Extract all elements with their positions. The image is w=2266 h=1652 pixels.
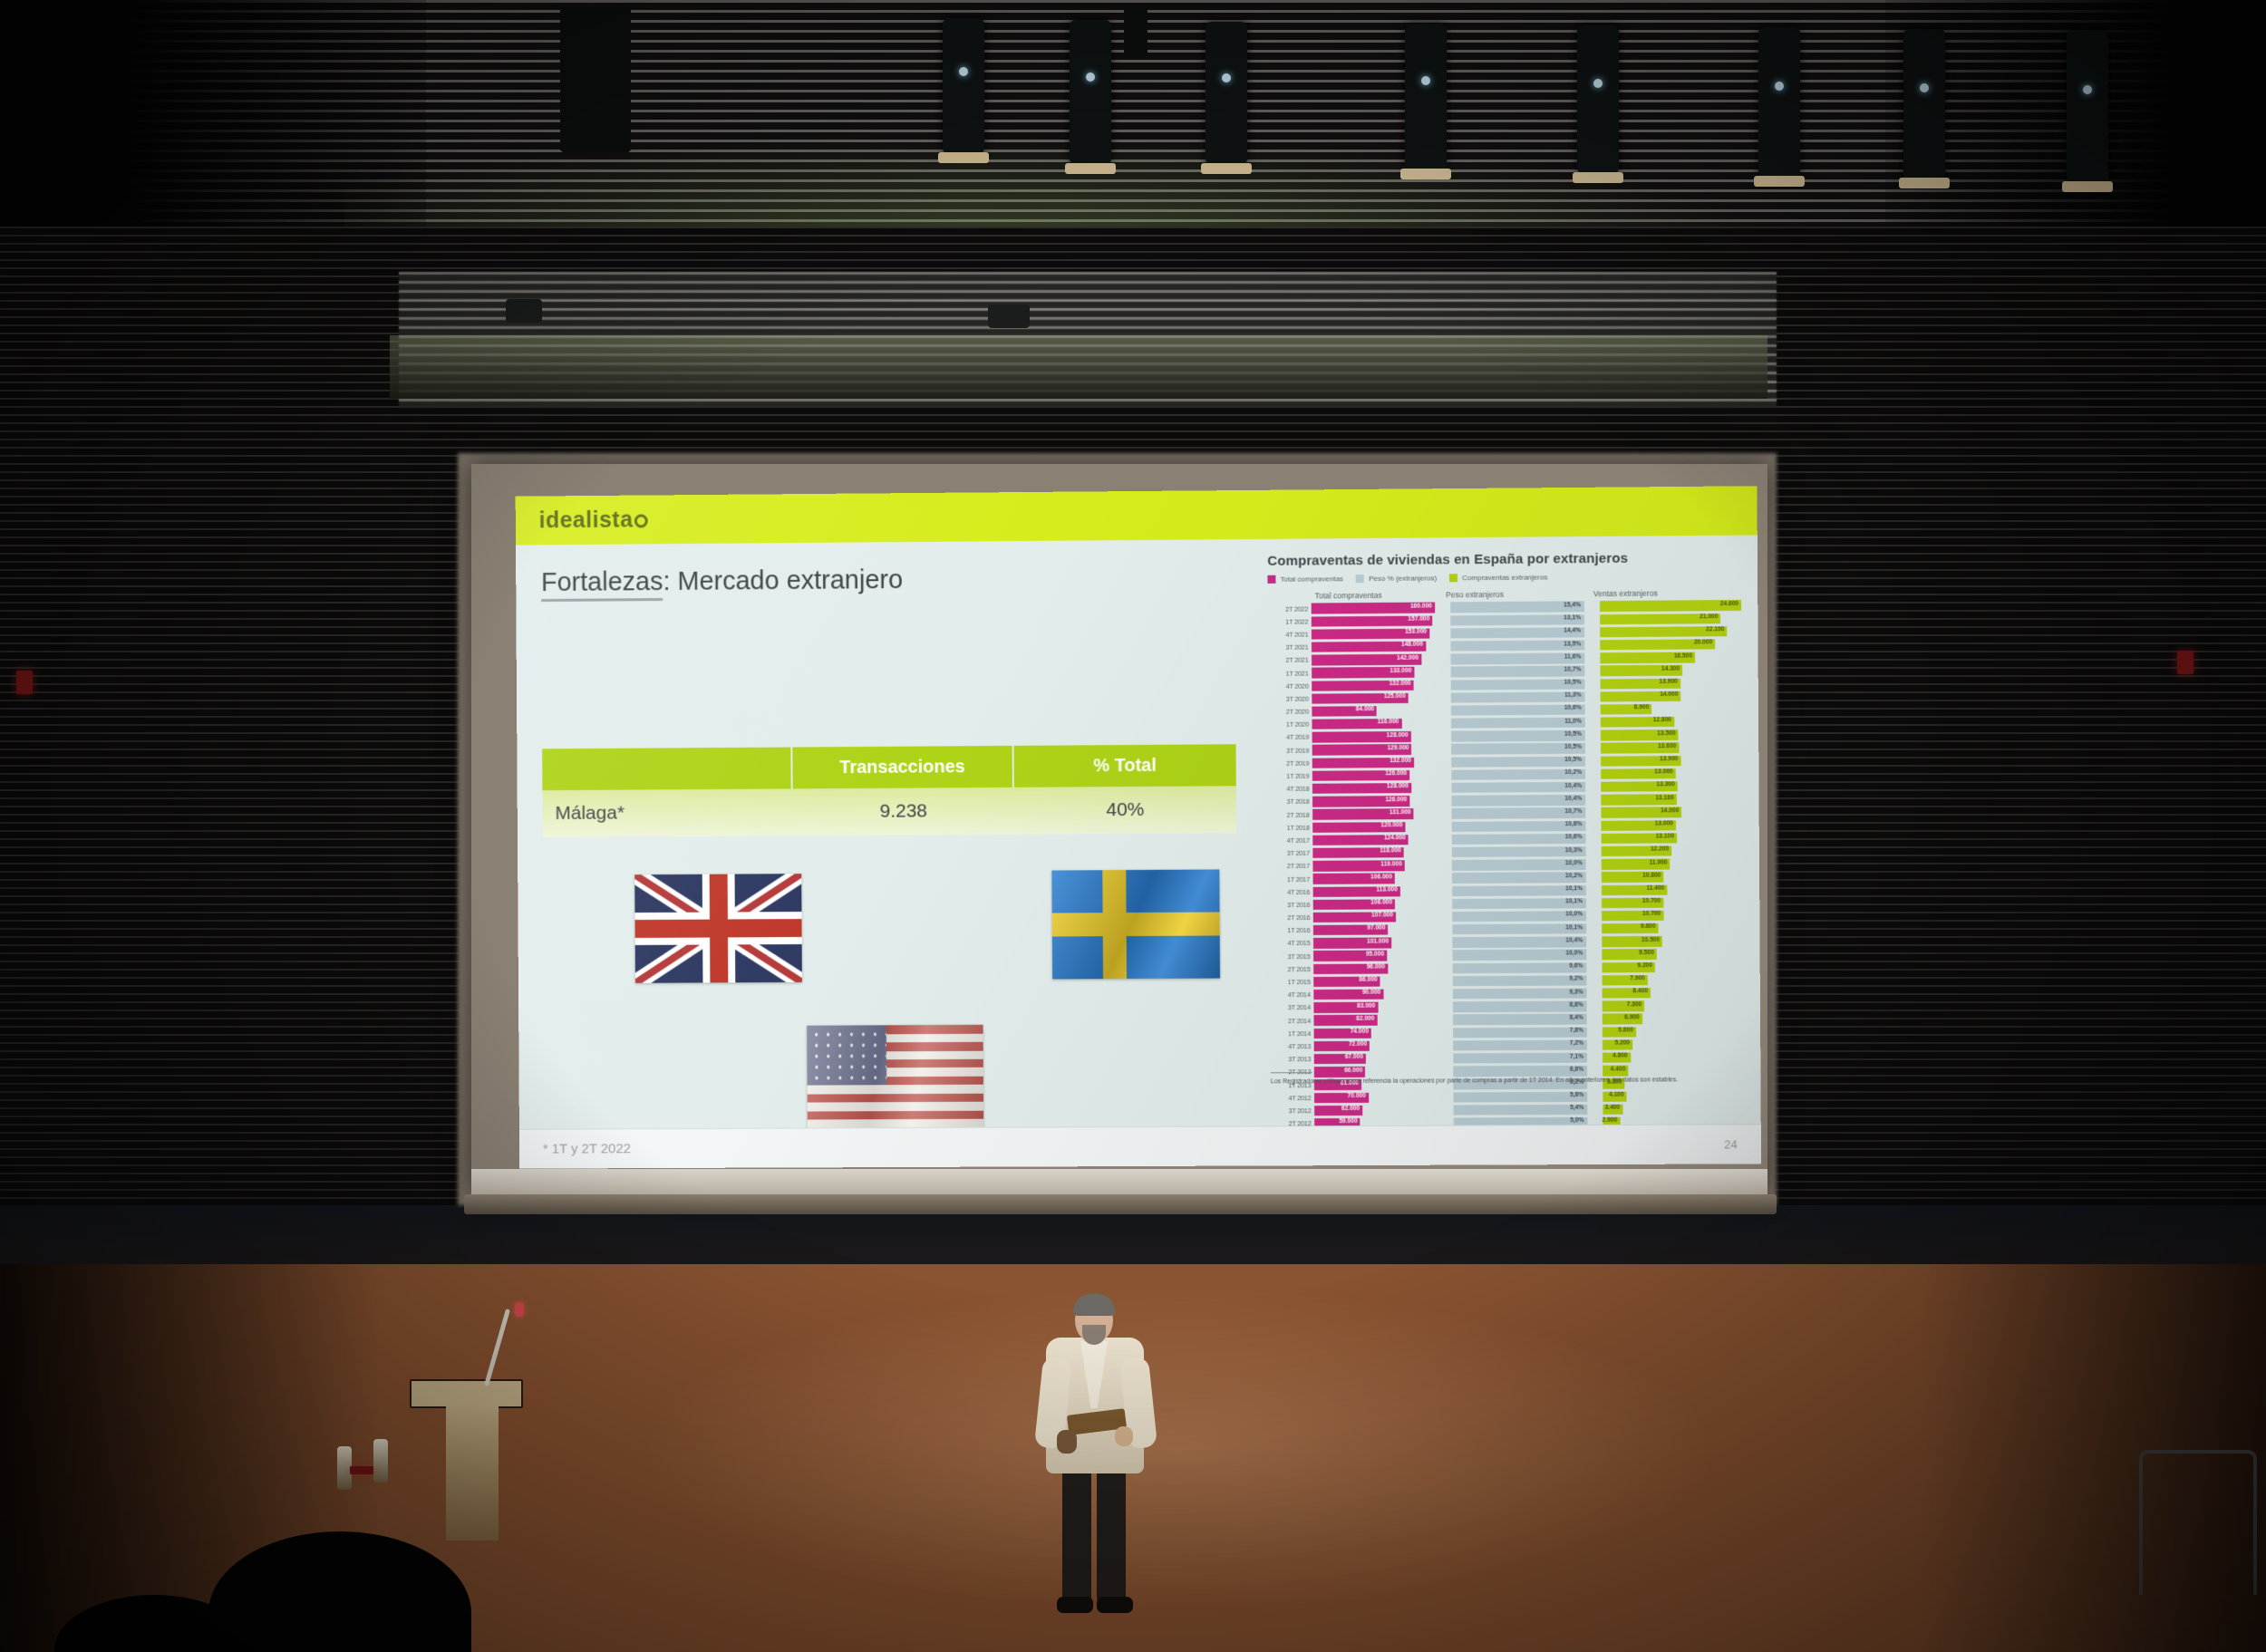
chart-row-label: 1T 2014 xyxy=(1270,1029,1314,1038)
stage-light-4 xyxy=(1405,24,1447,170)
chart-row-label: 4T 2021 xyxy=(1268,631,1312,639)
chart-row-label: 2T 2017 xyxy=(1269,862,1313,870)
chart-bar-ventas: 8.900 xyxy=(1601,703,1742,715)
chart-bar-ventas: 4.800 xyxy=(1603,1052,1744,1063)
chart-bar-peso: 10,0% xyxy=(1453,950,1587,961)
ceiling-shadow-left xyxy=(0,0,426,245)
chart-bar-ventas: 5.800 xyxy=(1603,1026,1744,1037)
chart-bar-peso: 10,5% xyxy=(1451,756,1585,767)
chart-bar-peso: 10,8% xyxy=(1452,821,1586,832)
chart-bar-total: 128.000 xyxy=(1312,783,1436,794)
water-bottle-2 xyxy=(373,1439,388,1483)
chart-row-label: 3T 2013 xyxy=(1271,1055,1315,1063)
table-header-row: Transacciones % Total xyxy=(542,744,1236,790)
chart-bar-ventas: 7.300 xyxy=(1603,1000,1744,1011)
chart-bar-peso: 10,6% xyxy=(1452,834,1586,845)
chart-bar-total: 128.000 xyxy=(1312,731,1436,742)
presenter-leg-left xyxy=(1062,1468,1091,1602)
chart-row-label: 4T 2012 xyxy=(1271,1094,1315,1102)
chart-bar-peso: 11,6% xyxy=(1451,653,1585,664)
chart-row-label: 1T 2018 xyxy=(1269,824,1313,832)
chart-row-label: 4T 2013 xyxy=(1271,1042,1315,1050)
chart-bar-peso: 10,3% xyxy=(1452,846,1586,857)
chart-row-label: 4T 2018 xyxy=(1269,785,1313,793)
presenter-leg-right xyxy=(1097,1468,1126,1602)
chart-bar-peso: 10,7% xyxy=(1451,666,1585,677)
sweden-flag-icon xyxy=(1051,869,1220,979)
chart-bar-ventas: 21.000 xyxy=(1600,613,1741,625)
chart-bar-total: 126.000 xyxy=(1312,770,1436,781)
chart-bar-peso: 7,8% xyxy=(1453,1027,1587,1038)
presenter-hand-left xyxy=(1057,1430,1077,1454)
chart-bar-peso: 7,1% xyxy=(1453,1053,1587,1064)
chart-bar-peso: 10,5% xyxy=(1451,743,1585,754)
presenter-hair xyxy=(1073,1294,1115,1316)
chart-bar-peso: 7,2% xyxy=(1453,1039,1587,1050)
chart-bar-peso: 10,4% xyxy=(1452,795,1586,806)
chart-bar-ventas: 9.500 xyxy=(1603,949,1744,960)
table-cell-label: Málaga* xyxy=(542,788,793,837)
wall-speaker-right xyxy=(988,304,1030,328)
presenter-shoe-right xyxy=(1097,1597,1133,1613)
chart-bar-peso: 11,3% xyxy=(1451,691,1585,702)
chart-bar-total: 132.000 xyxy=(1312,757,1436,768)
chart-row-label: 4T 2016 xyxy=(1270,888,1314,896)
logo-at-mark xyxy=(634,514,647,527)
chart-bar-peso: 9,2% xyxy=(1453,975,1587,986)
chart-bar-ventas: 11.900 xyxy=(1602,858,1743,869)
presenter-hand-right xyxy=(1115,1426,1133,1446)
chart-bar-ventas: 10.500 xyxy=(1603,936,1744,947)
chart-bar-total: 124.000 xyxy=(1313,835,1437,845)
chart-bar-total: 67.000 xyxy=(1314,1053,1438,1064)
table-header-pct-total: % Total xyxy=(1014,744,1236,787)
chart-bar-ventas: 24.600 xyxy=(1600,600,1741,612)
chart-bar-ventas: 7.900 xyxy=(1603,974,1744,985)
chart-bar-total: 116.000 xyxy=(1312,719,1436,729)
chart-row-label: 4T 2017 xyxy=(1269,836,1313,845)
chart-row-label: 3T 2012 xyxy=(1271,1106,1315,1115)
chart-bar-total: 96.000 xyxy=(1314,963,1438,974)
chart-bar-total: 82.000 xyxy=(1314,1015,1438,1026)
lectern-column xyxy=(446,1406,499,1541)
chart-row-label: 1T 2022 xyxy=(1268,617,1312,625)
chart-bar-total: 142.000 xyxy=(1312,654,1435,665)
stage-light-2 xyxy=(1070,20,1111,165)
chart-bar-peso: 13,1% xyxy=(1450,614,1584,626)
exit-light xyxy=(350,1466,373,1474)
chart-bar-ventas: 4.100 xyxy=(1603,1091,1745,1102)
chart-bar-ventas: 9.800 xyxy=(1603,923,1744,933)
chart-bar-peso: 5,4% xyxy=(1454,1105,1588,1116)
chart-bar-peso: 6,6% xyxy=(1453,1066,1587,1077)
chart-bar-total: 118.000 xyxy=(1313,847,1437,858)
chart-row-label: 2T 2015 xyxy=(1270,965,1314,973)
chart-row-label: 3T 2020 xyxy=(1268,695,1312,703)
page-title: Fortalezas: Mercado extranjero xyxy=(541,565,903,598)
chart-bar-total: 95.000 xyxy=(1313,951,1437,961)
chart-bar-peso: 8,4% xyxy=(1453,1014,1587,1025)
chart-row-label: 3T 2015 xyxy=(1270,952,1314,961)
chart-bar-peso: 13,5% xyxy=(1451,640,1585,651)
chart-row-label: 1T 2015 xyxy=(1270,978,1314,986)
chart-colhead-ventas: Ventas extranjeros xyxy=(1583,588,1729,598)
chart-bar-total: 153.000 xyxy=(1312,628,1435,639)
chart-bar-peso: 10,5% xyxy=(1451,730,1585,741)
chart-bar-ventas: 9.200 xyxy=(1603,961,1744,972)
chart-bar-total: 97.000 xyxy=(1313,924,1437,935)
chart-bar-peso: 8,8% xyxy=(1453,1001,1587,1012)
chart-bar-peso: 10,4% xyxy=(1452,782,1586,793)
chart-bar-peso: 11,0% xyxy=(1451,718,1585,729)
chart-row-label: 2T 2019 xyxy=(1269,759,1313,768)
chart-bar-ventas: 14.000 xyxy=(1601,691,1742,702)
chart-row-label: 4T 2015 xyxy=(1270,939,1314,947)
chart-row-label: 3T 2014 xyxy=(1270,1003,1314,1011)
chart-bar-ventas: 6.900 xyxy=(1603,1013,1744,1024)
chart-bar-ventas: 10.700 xyxy=(1602,897,1743,908)
chart-row-label: 4T 2014 xyxy=(1270,990,1314,999)
chart-row-label: 1T 2019 xyxy=(1269,772,1313,780)
chart-bar-total: 160.000 xyxy=(1312,603,1435,613)
stage-light-6 xyxy=(1758,27,1800,178)
chart-row-label: 3T 2021 xyxy=(1268,643,1312,652)
lectern-top xyxy=(410,1379,523,1408)
truss-box-right xyxy=(1124,4,1148,58)
chart-bar-ventas: 5.200 xyxy=(1603,1039,1744,1050)
table-header-blank xyxy=(542,748,793,791)
chart-bar-peso: 10,4% xyxy=(1453,937,1587,948)
chart-row-label: 2T 2016 xyxy=(1270,913,1314,922)
united-states-flag-icon xyxy=(807,1025,983,1137)
stage-light-1 xyxy=(943,18,984,154)
chart-bar-peso: 10,5% xyxy=(1451,679,1585,690)
chart-bar-peso: 10,0% xyxy=(1452,859,1586,870)
stage-floor-light xyxy=(634,1287,1722,1613)
chart-bar-peso: 5,8% xyxy=(1454,1091,1588,1102)
chart-bar-ventas: 13.100 xyxy=(1602,794,1743,805)
chart-bar-total: 120.000 xyxy=(1313,822,1437,833)
chart-row-label: 2T 2021 xyxy=(1268,656,1312,664)
chart-bar-ventas: 16.500 xyxy=(1601,652,1742,663)
microphone-head xyxy=(515,1302,524,1317)
stage-handrail xyxy=(2139,1450,2257,1595)
chart-bar-peso: 10,7% xyxy=(1452,807,1586,818)
chart-bar-total: 106.000 xyxy=(1313,899,1437,910)
chart-row-label: 3T 2016 xyxy=(1270,901,1314,909)
legend-item-peso: Peso % (extranjeros) xyxy=(1356,574,1437,583)
chart-bar-ventas: 22.100 xyxy=(1601,626,1742,638)
chart-bar-total: 157.000 xyxy=(1312,615,1435,626)
chart-bar-total: 131.000 xyxy=(1313,808,1437,819)
truss-box-left xyxy=(560,7,631,152)
chart-bar-total: 132.000 xyxy=(1312,680,1436,691)
chart-title: Compraventas de viviendas en España por … xyxy=(1267,550,1741,569)
chart-bar-ventas: 10.800 xyxy=(1602,871,1743,882)
chart-note-rule xyxy=(1271,1072,1312,1073)
slide-page-number: 24 xyxy=(1724,1137,1738,1151)
side-exit-light-left xyxy=(16,671,33,694)
chart-bar-total: 84.000 xyxy=(1312,706,1436,717)
foreign-purchases-chart: Compraventas de viviendas en España por … xyxy=(1267,550,1744,1135)
chart-row-label: 3T 2017 xyxy=(1269,849,1313,857)
page-title-underlined: Fortalezas xyxy=(541,567,663,602)
table-header-transacciones: Transacciones xyxy=(792,746,1013,789)
chart-bar-total: 66.000 xyxy=(1314,1067,1438,1077)
slide-footnote-left: * 1T y 2T 2022 xyxy=(543,1141,631,1156)
chart-bar-total: 83.000 xyxy=(1314,1002,1438,1013)
chart-row-label: 2T 2020 xyxy=(1268,708,1312,716)
presentation-slide: idealista Fortalezas: Mercado extranjero… xyxy=(516,486,1761,1168)
chart-bar-peso: 10,2% xyxy=(1451,769,1585,780)
chart-row-label: 4T 2020 xyxy=(1268,681,1312,690)
chart-bar-ventas: 10.700 xyxy=(1602,910,1743,921)
chart-colhead-peso: Peso extranjeros xyxy=(1437,589,1583,599)
chart-bar-total: 72.000 xyxy=(1314,1040,1438,1051)
chart-row-label: 2T 2018 xyxy=(1269,810,1313,818)
chart-bar-peso: 10,2% xyxy=(1452,872,1586,883)
page-title-rest: : Mercado extranjero xyxy=(663,565,903,596)
chart-row-label: 1T 2017 xyxy=(1269,874,1313,883)
chart-legend: Total compraventas Peso % (extranjeros) … xyxy=(1267,572,1741,584)
chart-bar-ventas: 14.300 xyxy=(1601,665,1742,677)
chart-bar-ventas: 14.000 xyxy=(1602,807,1743,817)
chart-bar-total: 126.000 xyxy=(1312,796,1436,807)
chart-bar-ventas: 13.900 xyxy=(1601,678,1742,690)
side-exit-light-right xyxy=(2177,651,2193,674)
chart-bar-peso: 10,0% xyxy=(1452,911,1586,922)
legend-item-total: Total compraventas xyxy=(1267,575,1343,584)
chart-colhead-total: Total compraventas xyxy=(1268,590,1438,600)
chart-bar-ventas: 13.000 xyxy=(1602,819,1743,830)
stage-light-8 xyxy=(2067,31,2108,183)
chart-bar-total: 74.000 xyxy=(1314,1028,1438,1039)
chart-bar-ventas: 13.300 xyxy=(1602,781,1743,792)
chart-rows: 2T 2022160.00015,4%24.6001T 2022157.0001… xyxy=(1268,599,1745,1143)
transactions-table: Transacciones % Total Málaga* 9.238 40% xyxy=(542,744,1236,837)
table-row: Málaga* 9.238 40% xyxy=(542,786,1236,837)
legend-item-extranjeros: Compraventas extranjeros xyxy=(1449,573,1547,582)
chart-bar-peso: 10,1% xyxy=(1452,885,1586,896)
chart-bar-total: 62.000 xyxy=(1315,1105,1438,1116)
chart-bar-total: 107.000 xyxy=(1313,912,1437,923)
chart-row-label: 1T 2021 xyxy=(1268,669,1312,677)
chart-bar-total: 113.000 xyxy=(1313,886,1437,897)
chart-bar-total: 119.000 xyxy=(1313,860,1437,871)
chart-bar-ventas: 13.000 xyxy=(1602,768,1743,778)
table-cell-pct-total: 40% xyxy=(1014,786,1236,835)
chart-bar-ventas: 13.600 xyxy=(1601,742,1742,753)
chart-bar-ventas: 13.100 xyxy=(1602,833,1743,844)
chart-bar-ventas: 13.500 xyxy=(1601,729,1742,740)
chart-row-label: 1T 2020 xyxy=(1268,720,1312,729)
chart-bar-ventas: 12.200 xyxy=(1602,845,1743,856)
chart-bar-peso: 9,6% xyxy=(1453,962,1587,973)
presenter-shoe-left xyxy=(1057,1597,1093,1613)
auditorium-scene: idealista Fortalezas: Mercado extranjero… xyxy=(0,0,2266,1652)
stage-light-5 xyxy=(1577,25,1619,174)
chart-bar-total: 129.000 xyxy=(1312,744,1436,755)
chart-bar-total: 133.000 xyxy=(1312,667,1436,678)
chart-row-label: 3T 2018 xyxy=(1269,797,1313,806)
chart-row-label: 3T 2019 xyxy=(1269,746,1313,754)
chart-bar-peso: 15,4% xyxy=(1450,602,1584,613)
chart-bar-total: 86.000 xyxy=(1314,976,1438,987)
chart-row-label: 2T 2014 xyxy=(1270,1017,1314,1025)
table-cell-transacciones: 9.238 xyxy=(793,787,1015,836)
slide-footer: * 1T y 2T 2022 24 xyxy=(519,1124,1761,1168)
chart-bar-peso: 10,1% xyxy=(1452,898,1586,909)
chart-bar-ventas: 3.400 xyxy=(1603,1104,1745,1115)
stage-light-3 xyxy=(1206,22,1247,165)
chart-bar-total: 106.000 xyxy=(1313,873,1437,884)
chart-bar-peso: 9,3% xyxy=(1453,989,1587,1000)
wall-soffit xyxy=(390,335,1767,399)
chart-bar-total: 125.000 xyxy=(1312,692,1436,703)
stage-light-7 xyxy=(1903,29,1945,179)
chart-bar-ventas: 12.800 xyxy=(1601,717,1742,728)
chart-bar-peso: 10,6% xyxy=(1451,704,1585,715)
chart-bar-total: 101.000 xyxy=(1313,937,1437,948)
slide-brand-bar: idealista xyxy=(516,486,1758,545)
chart-bar-ventas: 20.000 xyxy=(1601,639,1742,651)
screen-bottom-rail xyxy=(464,1194,1777,1214)
chart-bar-total: 70.000 xyxy=(1314,1092,1438,1103)
chart-bar-total: 90.000 xyxy=(1314,989,1438,1000)
chart-bar-peso: 10,1% xyxy=(1452,923,1586,934)
chart-bar-ventas: 13.900 xyxy=(1601,755,1742,766)
united-kingdom-flag-icon xyxy=(634,874,802,983)
wall-speaker-left xyxy=(506,299,542,323)
idealista-logo: idealista xyxy=(539,507,648,534)
chart-bar-ventas: 8.400 xyxy=(1603,988,1744,999)
chart-row-label: 2T 2022 xyxy=(1268,604,1312,613)
chart-bar-ventas: 4.400 xyxy=(1603,1065,1745,1076)
chart-bar-peso: 14,4% xyxy=(1450,627,1584,639)
presenter xyxy=(1031,1298,1158,1624)
chart-bar-total: 148.000 xyxy=(1312,642,1435,652)
chart-row-label: 1T 2016 xyxy=(1270,926,1314,934)
chart-row-label: 4T 2019 xyxy=(1268,733,1312,741)
chart-bar-ventas: 11.400 xyxy=(1602,884,1743,895)
